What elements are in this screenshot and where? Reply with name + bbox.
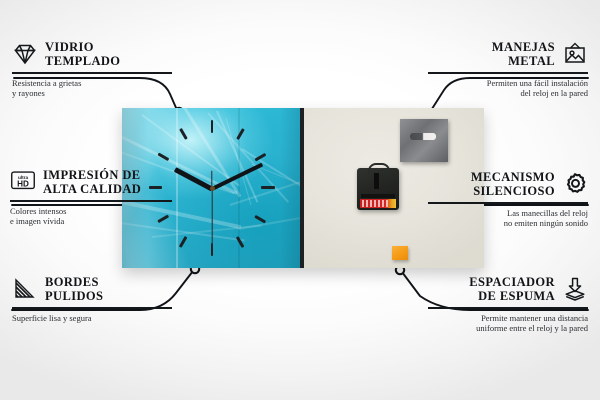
divider xyxy=(428,307,588,309)
feature-manejas-metal: MANEJAS METAL Permiten una fácil instala… xyxy=(428,40,588,99)
feature-description: Colores intensos e imagen vívida xyxy=(10,206,172,227)
divider xyxy=(428,202,588,204)
feature-title: ESPACIADOR DE ESPUMA xyxy=(428,275,555,303)
divider xyxy=(10,200,172,202)
ultra-hd-icon: ultra HD xyxy=(10,169,36,195)
foam-spacer-icon xyxy=(562,276,588,302)
clock-mechanism xyxy=(357,168,399,210)
feature-title: MECANISMO SILENCIOSO xyxy=(428,170,555,198)
feature-bordes-pulidos: BORDES PULIDOS Superficie lisa y segura xyxy=(12,275,172,323)
metal-hanger xyxy=(400,119,448,162)
diamond-icon xyxy=(12,41,38,67)
hanging-frame-icon xyxy=(562,41,588,67)
feature-title: BORDES PULIDOS xyxy=(45,275,103,303)
feature-espaciador-espuma: ESPACIADOR DE ESPUMA Permite mantener un… xyxy=(428,275,588,334)
clock-hand-second xyxy=(211,188,212,248)
divider xyxy=(428,72,588,74)
divider xyxy=(12,72,172,74)
svg-text:HD: HD xyxy=(17,179,29,188)
feature-description: Permite mantener una distancia uniforme … xyxy=(428,313,588,334)
foam-spacer xyxy=(392,246,408,260)
feature-title: VIDRIO TEMPLADO xyxy=(45,40,120,68)
feature-title: MANEJAS METAL xyxy=(428,40,555,68)
gear-icon xyxy=(562,171,588,197)
feature-description: Superficie lisa y segura xyxy=(12,313,172,324)
feature-vidrio-templado: VIDRIO TEMPLADO Resistencia a grietas y … xyxy=(12,40,172,99)
feature-description: Las manecillas del reloj no emiten ningú… xyxy=(428,208,588,229)
feature-description: Permiten una fácil instalación del reloj… xyxy=(428,78,588,99)
divider xyxy=(12,307,172,309)
feature-impresion-alta-calidad: ultra HD IMPRESIÓN DE ALTA CALIDAD Color… xyxy=(10,168,172,227)
feature-mecanismo-silencioso: MECANISMO SILENCIOSO Las manecillas del … xyxy=(428,170,588,229)
feature-title: IMPRESIÓN DE ALTA CALIDAD xyxy=(43,168,141,196)
hanger-slot xyxy=(410,133,436,140)
feature-description: Resistencia a grietas y rayones xyxy=(12,78,172,99)
infographic-canvas: VIDRIO TEMPLADO Resistencia a grietas y … xyxy=(0,0,600,400)
polished-edges-icon xyxy=(12,276,38,302)
